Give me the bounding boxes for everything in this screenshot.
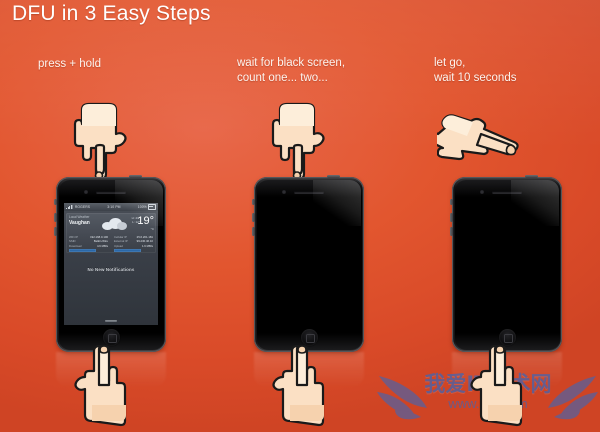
front-camera-icon [480, 190, 484, 194]
upload-bar [114, 249, 141, 252]
iphone-step-3 [452, 177, 562, 352]
home-button[interactable] [499, 329, 516, 346]
volume-down-button[interactable] [450, 227, 453, 236]
front-camera-icon [84, 190, 88, 194]
hand-pointing-up-icon [72, 345, 134, 432]
poster-canvas: DFU in 3 Easy Steps press + hold wait fo… [0, 0, 600, 432]
empty-state-label: No New Notifications [64, 267, 158, 272]
silent-switch[interactable] [450, 199, 453, 205]
earpiece-speaker-icon [96, 191, 126, 194]
battery-percent-label: 100% [138, 205, 147, 209]
volume-down-button[interactable] [54, 227, 57, 236]
volume-up-button[interactable] [252, 213, 255, 222]
hand-pointing-up-icon [270, 345, 332, 432]
iphone-step-2 [254, 177, 364, 352]
weather-city: Vaughan [69, 220, 90, 226]
hand-pointing-up-icon [468, 345, 530, 432]
iphone-step-1: ROGERS 3:10 PM 100% Local Weather Vaugha… [56, 177, 166, 352]
weather-label: Local Weather [69, 215, 90, 219]
home-square-icon [504, 334, 513, 343]
cloudy-icon [100, 215, 128, 231]
network-info-rows: WiFi IP192.168.0.100 SSIDBelkin.Wire Dow… [66, 234, 156, 253]
power-button[interactable] [525, 175, 538, 178]
home-button[interactable] [301, 329, 318, 346]
phone-screen[interactable]: ROGERS 3:10 PM 100% Local Weather Vaugha… [64, 203, 158, 325]
front-camera-icon [282, 190, 286, 194]
drag-handle[interactable] [105, 320, 117, 322]
earpiece-speaker-icon [492, 191, 522, 194]
earpiece-speaker-icon [294, 191, 324, 194]
download-bar [69, 249, 96, 252]
step-3-caption: let go, wait 10 seconds [434, 56, 516, 86]
volume-down-button[interactable] [252, 227, 255, 236]
hand-pointing-down-icon [68, 102, 130, 185]
volume-up-button[interactable] [450, 213, 453, 222]
home-square-icon [108, 334, 117, 343]
signal-bars-icon [66, 205, 73, 209]
info-row: Upload1.6 MB/s [114, 244, 153, 248]
info-row: Download4.6 MB/s [69, 244, 108, 248]
clock-label: 3:10 PM [107, 205, 120, 209]
home-button[interactable] [103, 329, 120, 346]
step-1-caption: press + hold [38, 57, 101, 72]
phone-screen-black[interactable] [460, 203, 554, 325]
home-square-icon [306, 334, 315, 343]
silent-switch[interactable] [252, 199, 255, 205]
volume-up-button[interactable] [54, 213, 57, 222]
page-title: DFU in 3 Easy Steps [12, 2, 211, 26]
silent-switch[interactable] [54, 199, 57, 205]
weather-widget[interactable]: Local Weather Vaughan H: 21° L: 12° 19° … [66, 213, 156, 253]
power-button[interactable] [327, 175, 340, 178]
weather-temperature: 19° [137, 215, 154, 227]
hand-pointing-down-icon [266, 102, 328, 185]
carrier-label: ROGERS [75, 205, 90, 209]
power-button[interactable] [129, 175, 142, 178]
status-bar: ROGERS 3:10 PM 100% [64, 203, 158, 211]
weather-unit: °C [151, 227, 154, 231]
hand-pointing-right-icon [437, 108, 527, 177]
phone-screen-black[interactable] [262, 203, 356, 325]
notification-center: ROGERS 3:10 PM 100% Local Weather Vaugha… [64, 203, 158, 325]
network-info-column-left: WiFi IP192.168.0.100 SSIDBelkin.Wire Dow… [66, 234, 111, 253]
battery-icon [148, 204, 156, 209]
step-2-caption: wait for black screen, count one... two.… [237, 56, 345, 86]
network-info-column-right: Cellular IP25.6.201.181 External IP99.23… [111, 234, 156, 253]
weather-summary: Local Weather Vaughan H: 21° L: 12° 19° … [66, 213, 156, 234]
